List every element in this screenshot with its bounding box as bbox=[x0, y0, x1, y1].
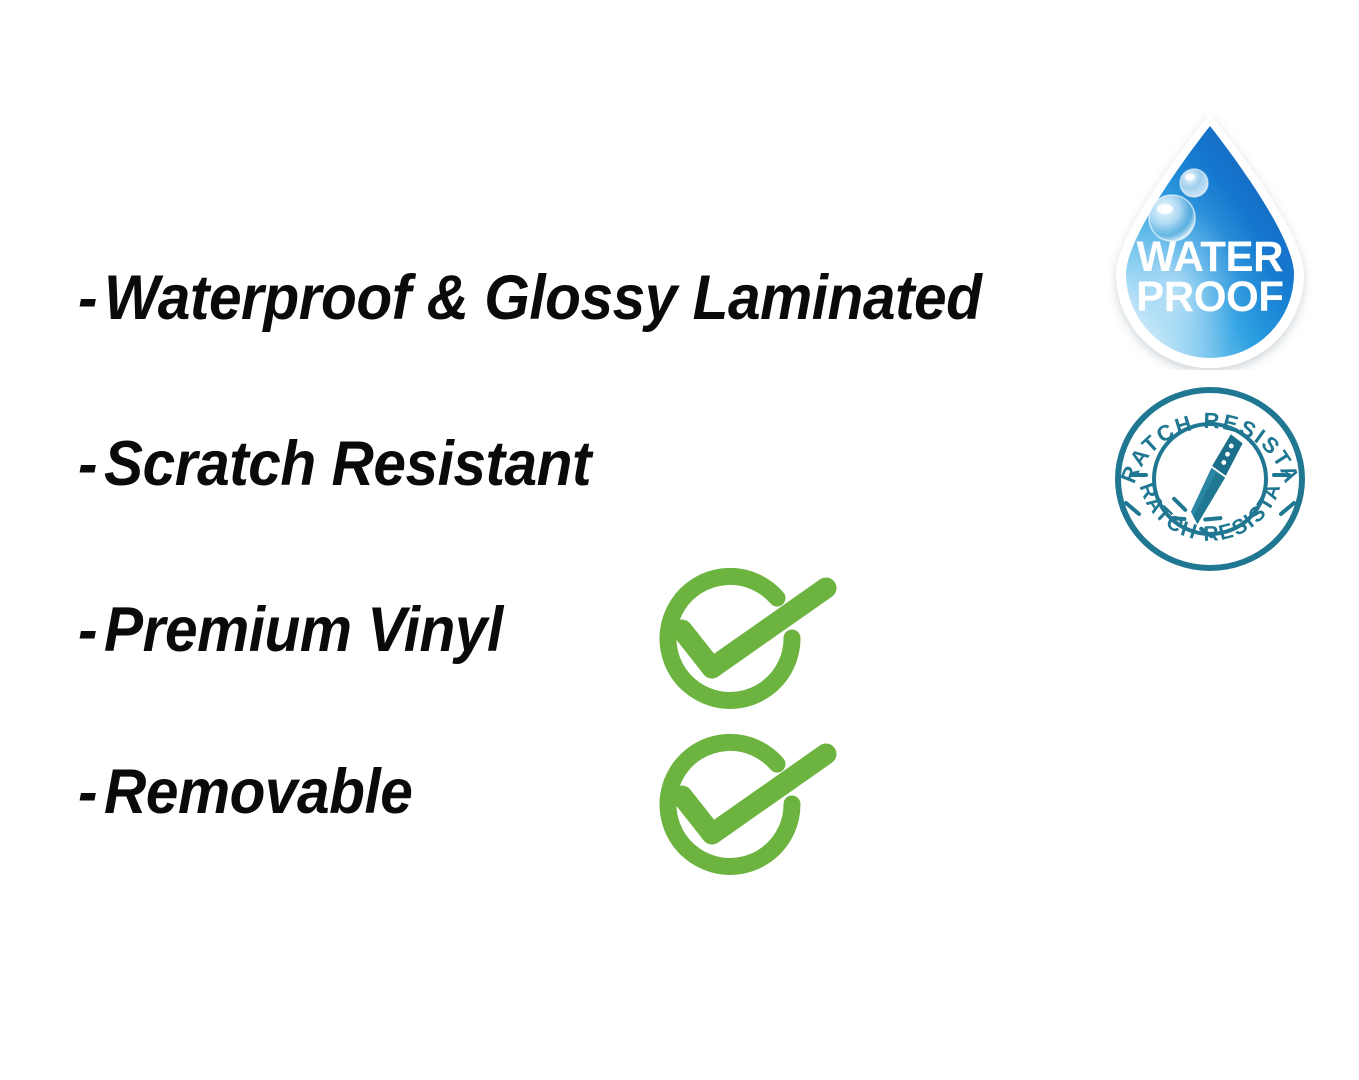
check-tick-icon bbox=[682, 588, 826, 668]
feature-label: Removable bbox=[104, 756, 412, 828]
scratch-resistant-badge: SCRATCH RESISTANT SCRATCH RESISTANT bbox=[1112, 383, 1308, 575]
feature-label: Premium Vinyl bbox=[104, 594, 503, 666]
feature-list: - Waterproof & Glossy Laminated - Scratc… bbox=[0, 0, 1100, 1080]
feature-graphic-canvas: - Waterproof & Glossy Laminated - Scratc… bbox=[0, 0, 1359, 1080]
bullet-dash: - bbox=[78, 756, 97, 828]
feature-item-waterproof-glossy-laminated: - Waterproof & Glossy Laminated bbox=[78, 262, 1048, 334]
feature-item-premium-vinyl: - Premium Vinyl bbox=[78, 594, 533, 666]
feature-label: Scratch Resistant bbox=[104, 428, 591, 500]
bullet-dash: - bbox=[78, 594, 97, 666]
scratch-arc-top-text: SCRATCH RESISTANT bbox=[1112, 383, 1305, 488]
check-removable bbox=[640, 722, 840, 882]
check-tick-icon bbox=[682, 754, 826, 834]
waterproof-line-2: PROOF bbox=[1136, 273, 1283, 321]
feature-item-removable: - Removable bbox=[78, 756, 436, 828]
bubble-small-icon bbox=[1180, 169, 1208, 197]
feature-item-scratch-resistant: - Scratch Resistant bbox=[78, 428, 628, 500]
bullet-dash: - bbox=[78, 428, 97, 500]
bullet-dash: - bbox=[78, 262, 97, 334]
feature-label: Waterproof & Glossy Laminated bbox=[104, 262, 981, 334]
check-premium-vinyl bbox=[640, 556, 840, 716]
waterproof-badge: WATER PROOF bbox=[1104, 108, 1316, 370]
